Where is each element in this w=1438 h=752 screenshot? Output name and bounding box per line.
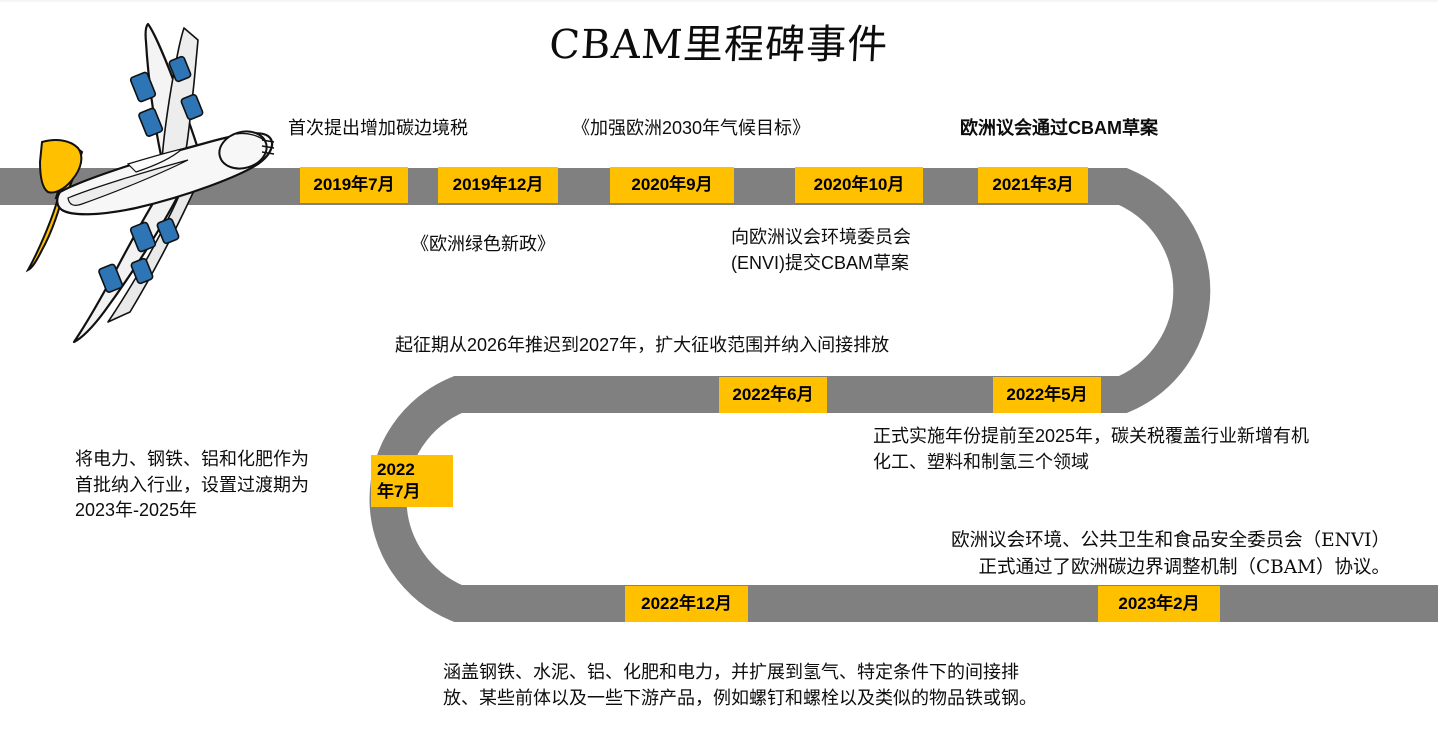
milestone-caption-2021-03: 欧洲议会通过CBAM草案 xyxy=(960,116,1158,142)
milestone-caption-2019-12: 《欧洲绿色新政》 xyxy=(411,232,555,258)
milestone-date-2023-02[interactable]: 2023年2月 xyxy=(1098,586,1220,622)
milestone-caption-2020-10: 向欧洲议会环境委员会 (ENVI)提交CBAM草案 xyxy=(731,225,911,276)
milestone-date-2022-12[interactable]: 2022年12月 xyxy=(625,586,748,622)
milestone-caption-2020-09: 《加强欧洲2030年气候目标》 xyxy=(572,116,810,142)
milestone-date-2020-09[interactable]: 2020年9月 xyxy=(610,167,734,203)
airplane-icon xyxy=(8,8,298,348)
milestone-caption-2019-07: 首次提出增加碳边境税 xyxy=(288,116,468,142)
milestone-caption-2022-06: 起征期从2026年推迟到2027年，扩大征收范围并纳入间接排放 xyxy=(395,333,889,359)
milestone-date-2022-05[interactable]: 2022年5月 xyxy=(993,377,1101,413)
milestone-date-2022-07[interactable]: 2022 年7月 xyxy=(371,455,453,507)
milestone-date-2019-12[interactable]: 2019年12月 xyxy=(438,167,558,203)
milestone-date-2022-06[interactable]: 2022年6月 xyxy=(719,377,827,413)
milestone-date-2020-10[interactable]: 2020年10月 xyxy=(795,167,923,203)
milestone-caption-2023-02: 欧洲议会环境、公共卫生和食品安全委员会（ENVI） 正式通过了欧洲碳边界调整机制… xyxy=(830,528,1390,581)
milestone-date-2021-03[interactable]: 2021年3月 xyxy=(978,167,1088,203)
infographic-canvas: CBAM里程碑事件 xyxy=(0,0,1438,752)
milestone-caption-2022-05: 正式实施年份提前至2025年，碳关税覆盖行业新增有机 化工、塑料和制氢三个领域 xyxy=(873,424,1309,475)
milestone-caption-2022-07: 将电力、钢铁、铝和化肥作为 首批纳入行业，设置过渡期为 2023年-2025年 xyxy=(75,447,309,524)
milestone-date-2019-07[interactable]: 2019年7月 xyxy=(300,167,408,203)
milestone-caption-2022-12: 涵盖钢铁、水泥、铝、化肥和电力，并扩展到氢气、特定条件下的间接排 放、某些前体以… xyxy=(443,660,1037,711)
